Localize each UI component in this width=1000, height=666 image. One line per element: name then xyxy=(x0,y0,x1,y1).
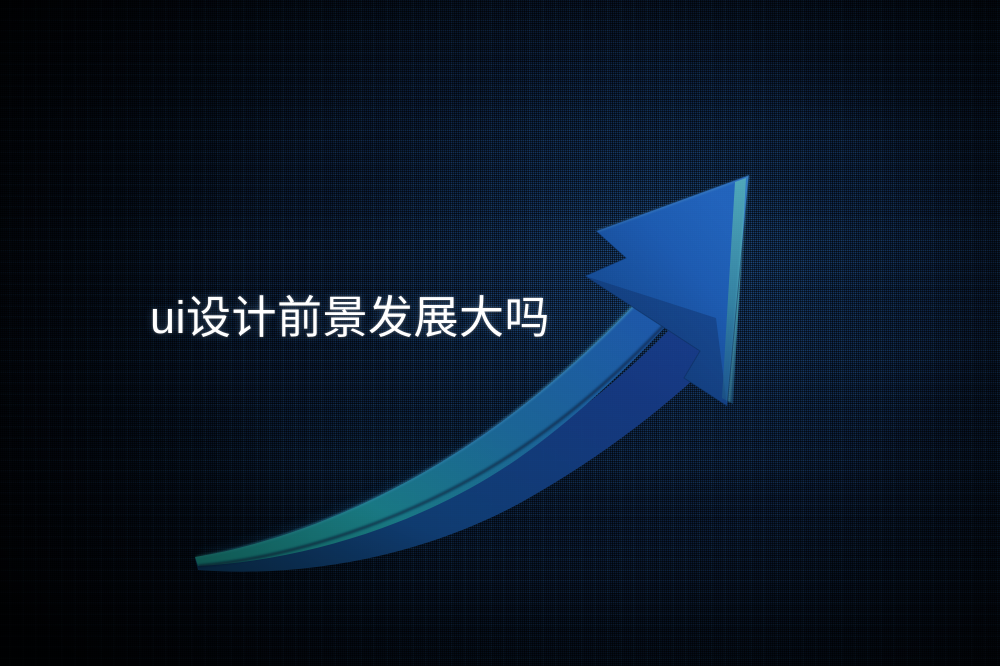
page-title: ui设计前景发展大吗 xyxy=(150,295,550,340)
title-block: ui设计前景发展大吗 xyxy=(150,286,770,348)
banner-canvas: ui设计前景发展大吗 xyxy=(0,0,1000,666)
